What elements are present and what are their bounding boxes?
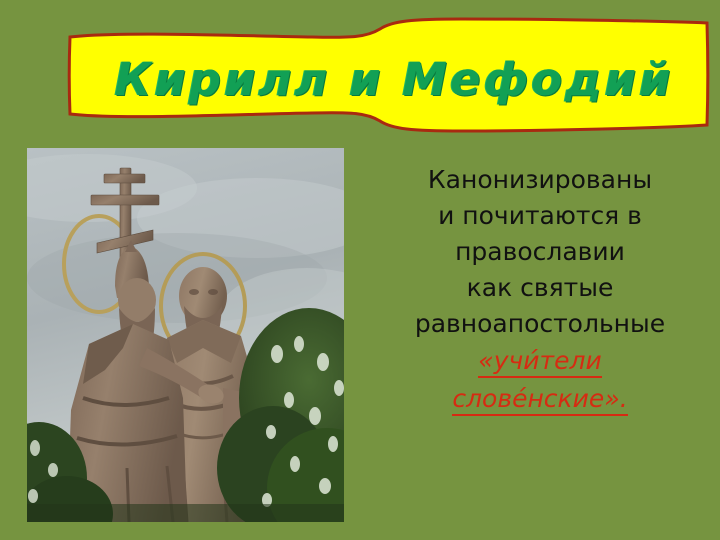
statue-photo xyxy=(27,148,344,522)
slide-title: Кирилл и Мефодий xyxy=(62,10,714,142)
body-line-3: православии xyxy=(380,234,700,270)
statue-photo-illustration xyxy=(27,148,344,522)
body-line-5: равноапостольные xyxy=(380,306,700,342)
body-line-4: как святые xyxy=(380,270,700,306)
body-line-1: Канонизированы xyxy=(380,162,700,198)
body-text-block: Канонизированы и почитаются в православи… xyxy=(380,162,700,418)
title-banner: Кирилл и Мефодий xyxy=(62,10,714,142)
quote-line-2: слове́нские». xyxy=(380,380,700,418)
quote-line-1: «учи́тели xyxy=(380,342,700,380)
quote-line-1-text: «учи́тели xyxy=(478,346,601,378)
body-line-2: и почитаются в xyxy=(380,198,700,234)
presentation-slide: Кирилл и Мефодий xyxy=(0,0,720,540)
quote-line-2-text: слове́нские». xyxy=(452,384,627,416)
